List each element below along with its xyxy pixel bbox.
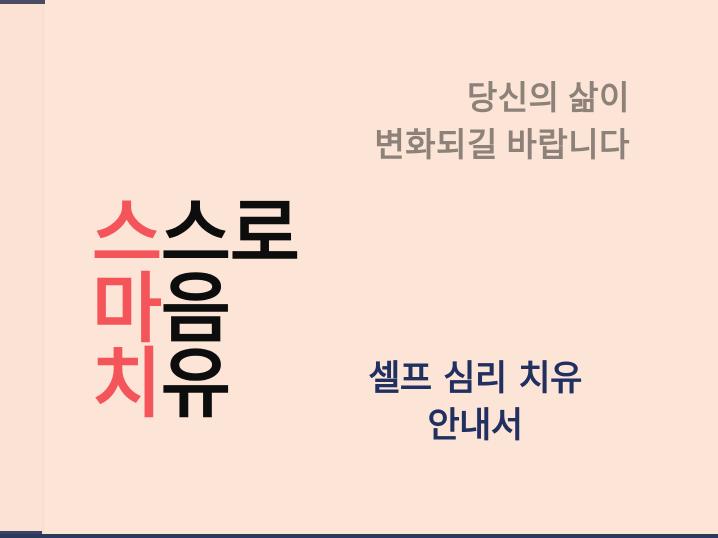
- headline: 스스로 마음 치유: [92, 196, 299, 422]
- subtitle: 셀프 심리 치유 안내서: [330, 356, 620, 449]
- background-left-band: [0, 0, 42, 538]
- headline-line-3-accent: 치: [92, 339, 161, 428]
- tagline-line-2: 변화되길 바랍니다: [374, 123, 630, 170]
- tagline: 당신의 삶이 변화되길 바랍니다: [374, 76, 630, 170]
- bottom-accent-bar: [0, 534, 718, 538]
- top-left-accent-bar: [0, 0, 45, 4]
- poster-canvas: 당신의 삶이 변화되길 바랍니다 스스로 마음 치유 셀프 심리 치유 안내서: [0, 0, 718, 538]
- subtitle-line-2: 안내서: [330, 403, 620, 450]
- headline-line-3-rest: 유: [161, 339, 230, 428]
- tagline-line-1: 당신의 삶이: [374, 76, 630, 123]
- background-seam-line: [42, 0, 44, 538]
- headline-line-1: 스스로: [92, 196, 299, 271]
- subtitle-line-1: 셀프 심리 치유: [330, 356, 620, 403]
- headline-line-2: 마음: [92, 271, 299, 346]
- headline-line-3: 치유: [92, 346, 299, 421]
